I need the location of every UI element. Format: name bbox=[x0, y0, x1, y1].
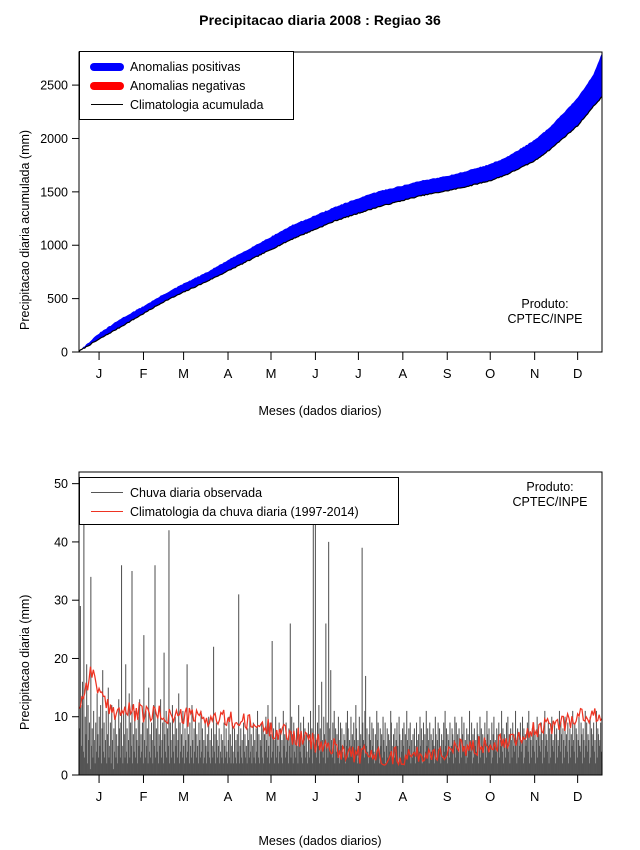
svg-text:D: D bbox=[573, 366, 582, 381]
svg-text:1000: 1000 bbox=[40, 239, 68, 253]
svg-text:10: 10 bbox=[54, 710, 68, 724]
y-axis-label: Precipitacao diaria (mm) bbox=[18, 595, 32, 730]
svg-text:M: M bbox=[178, 789, 189, 804]
legend-item: Chuva diaria observada bbox=[84, 483, 394, 502]
svg-text:O: O bbox=[485, 789, 495, 804]
svg-text:J: J bbox=[312, 789, 319, 804]
observed-rain-line-icon bbox=[84, 492, 130, 493]
svg-text:2000: 2000 bbox=[40, 132, 68, 146]
svg-text:20: 20 bbox=[54, 652, 68, 666]
daily-climatology-line-icon bbox=[84, 511, 130, 512]
legend-label: Anomalias positivas bbox=[130, 60, 240, 74]
svg-text:F: F bbox=[140, 366, 148, 381]
svg-text:0: 0 bbox=[61, 346, 68, 360]
legend-item: Climatologia acumulada bbox=[84, 95, 289, 114]
legend-label: Anomalias negativas bbox=[130, 79, 245, 93]
svg-text:A: A bbox=[398, 789, 407, 804]
accumulated-precipitation-panel: Precipitacao diaria 2008 : Regiao 36 050… bbox=[0, 0, 640, 430]
svg-text:J: J bbox=[96, 789, 103, 804]
legend-item: Anomalias negativas bbox=[84, 76, 289, 95]
svg-text:50: 50 bbox=[54, 477, 68, 491]
svg-text:A: A bbox=[224, 789, 233, 804]
negative-anomaly-swatch-icon bbox=[84, 82, 130, 90]
legend-daily: Chuva diaria observada Climatologia da c… bbox=[79, 477, 399, 525]
legend-item: Anomalias positivas bbox=[84, 57, 289, 76]
produto-annotation: Produto: CPTEC/INPE bbox=[480, 297, 610, 327]
svg-text:30: 30 bbox=[54, 594, 68, 608]
produto-annotation: Produto: CPTEC/INPE bbox=[485, 480, 615, 510]
x-axis-label: Meses (dados diarios) bbox=[0, 404, 640, 418]
legend-accumulated: Anomalias positivas Anomalias negativas … bbox=[79, 51, 294, 120]
svg-text:O: O bbox=[485, 366, 495, 381]
svg-text:M: M bbox=[178, 366, 189, 381]
legend-label: Climatologia da chuva diaria (1997-2014) bbox=[130, 505, 359, 519]
svg-text:N: N bbox=[530, 789, 539, 804]
svg-text:J: J bbox=[355, 366, 362, 381]
svg-text:0: 0 bbox=[61, 769, 68, 783]
y-axis-label: Precipitacao diaria acumulada (mm) bbox=[18, 130, 32, 330]
svg-text:M: M bbox=[266, 366, 277, 381]
legend-item: Climatologia da chuva diaria (1997-2014) bbox=[84, 502, 394, 521]
svg-text:S: S bbox=[443, 366, 452, 381]
svg-text:D: D bbox=[573, 789, 582, 804]
svg-text:500: 500 bbox=[47, 292, 68, 306]
svg-text:J: J bbox=[312, 366, 319, 381]
svg-text:40: 40 bbox=[54, 535, 68, 549]
svg-text:1500: 1500 bbox=[40, 185, 68, 199]
svg-text:F: F bbox=[140, 789, 148, 804]
legend-label: Chuva diaria observada bbox=[130, 486, 262, 500]
svg-text:A: A bbox=[224, 366, 233, 381]
svg-text:S: S bbox=[443, 789, 452, 804]
climatology-line-icon bbox=[84, 104, 130, 105]
daily-precipitation-panel: 01020304050JFMAMJJASOND Meses (dados dia… bbox=[0, 430, 640, 850]
svg-text:N: N bbox=[530, 366, 539, 381]
positive-anomaly-swatch-icon bbox=[84, 63, 130, 71]
svg-text:M: M bbox=[266, 789, 277, 804]
legend-label: Climatologia acumulada bbox=[130, 98, 263, 112]
svg-text:J: J bbox=[355, 789, 362, 804]
x-axis-label: Meses (dados diarios) bbox=[0, 834, 640, 848]
svg-text:J: J bbox=[96, 366, 103, 381]
svg-text:A: A bbox=[398, 366, 407, 381]
svg-text:2500: 2500 bbox=[40, 79, 68, 93]
